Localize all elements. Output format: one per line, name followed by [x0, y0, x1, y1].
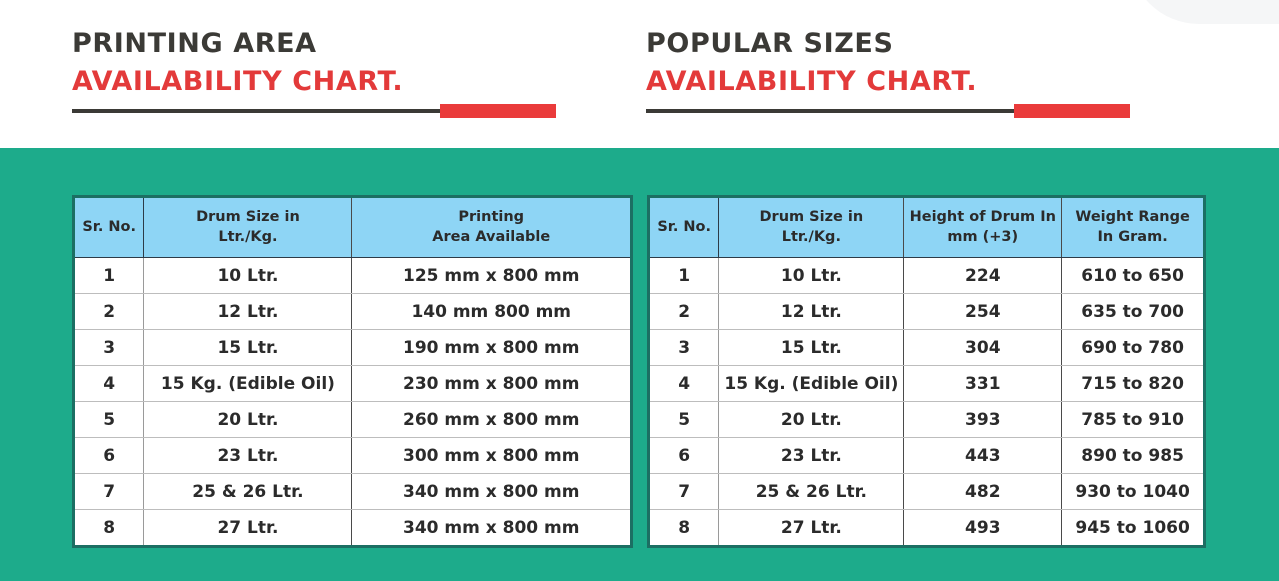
popular-sizes-table-head: Sr. No.Drum Size inLtr./Kg.Height of Dru…	[649, 197, 1205, 258]
table-cell: 10 Ltr.	[144, 258, 352, 294]
table-cell: 190 mm x 800 mm	[352, 330, 632, 366]
table-column-header: Height of Drum Inmm (+3)	[904, 197, 1062, 258]
table-cell: 27 Ltr.	[144, 510, 352, 547]
table-cell: 443	[904, 438, 1062, 474]
table-cell: 20 Ltr.	[144, 402, 352, 438]
table-cell: 254	[904, 294, 1062, 330]
table-row: 315 Ltr.190 mm x 800 mm	[74, 330, 632, 366]
table-cell: 15 Ltr.	[719, 330, 904, 366]
table-row: 623 Ltr.443890 to 985	[649, 438, 1205, 474]
table-cell: 230 mm x 800 mm	[352, 366, 632, 402]
table-cell: 12 Ltr.	[144, 294, 352, 330]
heading-popular-sizes-line2: AVAILABILITY CHART.	[646, 68, 977, 95]
divider-rule-right-dark	[646, 109, 1018, 113]
table-cell: 340 mm x 800 mm	[352, 474, 632, 510]
table-column-header: Sr. No.	[649, 197, 719, 258]
table-header-row: Sr. No.Drum Size inLtr./Kg.Height of Dru…	[649, 197, 1205, 258]
table-cell: 6	[649, 438, 719, 474]
table-cell: 20 Ltr.	[719, 402, 904, 438]
table-cell: 300 mm x 800 mm	[352, 438, 632, 474]
table-row: 212 Ltr.140 mm 800 mm	[74, 294, 632, 330]
table-row: 725 & 26 Ltr.340 mm x 800 mm	[74, 474, 632, 510]
table-cell: 331	[904, 366, 1062, 402]
table-cell: 3	[74, 330, 144, 366]
table-column-header: Drum Size inLtr./Kg.	[719, 197, 904, 258]
table-row: 520 Ltr.260 mm x 800 mm	[74, 402, 632, 438]
table-cell: 610 to 650	[1062, 258, 1205, 294]
table-cell: 715 to 820	[1062, 366, 1205, 402]
table-cell: 6	[74, 438, 144, 474]
table-cell: 482	[904, 474, 1062, 510]
table-cell: 23 Ltr.	[719, 438, 904, 474]
table-cell: 7	[74, 474, 144, 510]
table-cell: 140 mm 800 mm	[352, 294, 632, 330]
table-row: 415 Kg. (Edible Oil)331715 to 820	[649, 366, 1205, 402]
table-row: 110 Ltr.125 mm x 800 mm	[74, 258, 632, 294]
heading-printing-area-line1: PRINTING AREA	[72, 30, 403, 57]
table-cell: 393	[904, 402, 1062, 438]
table-cell: 1	[649, 258, 719, 294]
table-cell: 4	[649, 366, 719, 402]
heading-printing-area-line2: AVAILABILITY CHART.	[72, 68, 403, 95]
table-cell: 224	[904, 258, 1062, 294]
header-band: PRINTING AREA AVAILABILITY CHART. POPULA…	[0, 0, 1279, 148]
printing-area-table: Sr. No.Drum Size inLtr./Kg.PrintingArea …	[72, 195, 633, 548]
divider-rule-left	[72, 104, 556, 118]
table-cell: 8	[649, 510, 719, 547]
table-row: 725 & 26 Ltr.482930 to 1040	[649, 474, 1205, 510]
table-cell: 340 mm x 800 mm	[352, 510, 632, 547]
printing-area-table-head: Sr. No.Drum Size inLtr./Kg.PrintingArea …	[74, 197, 632, 258]
table-column-header: PrintingArea Available	[352, 197, 632, 258]
table-row: 520 Ltr.393785 to 910	[649, 402, 1205, 438]
divider-rule-left-dark	[72, 109, 444, 113]
table-cell: 493	[904, 510, 1062, 547]
table-row: 315 Ltr.304690 to 780	[649, 330, 1205, 366]
table-cell: 8	[74, 510, 144, 547]
heading-printing-area: PRINTING AREA AVAILABILITY CHART.	[72, 30, 403, 95]
heading-popular-sizes-line1: POPULAR SIZES	[646, 30, 977, 57]
corner-decoration	[1129, 0, 1279, 24]
table-cell: 5	[649, 402, 719, 438]
popular-sizes-table: Sr. No.Drum Size inLtr./Kg.Height of Dru…	[647, 195, 1206, 548]
divider-rule-left-red	[440, 104, 556, 118]
table-cell: 304	[904, 330, 1062, 366]
table-cell: 930 to 1040	[1062, 474, 1205, 510]
table-cell: 10 Ltr.	[719, 258, 904, 294]
table-cell: 635 to 700	[1062, 294, 1205, 330]
table-row: 212 Ltr.254635 to 700	[649, 294, 1205, 330]
table-row: 415 Kg. (Edible Oil)230 mm x 800 mm	[74, 366, 632, 402]
divider-rule-right	[646, 104, 1130, 118]
table-cell: 23 Ltr.	[144, 438, 352, 474]
table-cell: 7	[649, 474, 719, 510]
table-row: 827 Ltr.493945 to 1060	[649, 510, 1205, 547]
table-column-header: Weight RangeIn Gram.	[1062, 197, 1205, 258]
table-cell: 125 mm x 800 mm	[352, 258, 632, 294]
table-cell: 2	[74, 294, 144, 330]
popular-sizes-table-body: 110 Ltr.224610 to 650212 Ltr.254635 to 7…	[649, 258, 1205, 547]
table-cell: 25 & 26 Ltr.	[144, 474, 352, 510]
table-cell: 690 to 780	[1062, 330, 1205, 366]
table-row: 110 Ltr.224610 to 650	[649, 258, 1205, 294]
table-cell: 25 & 26 Ltr.	[719, 474, 904, 510]
table-cell: 12 Ltr.	[719, 294, 904, 330]
table-cell: 15 Kg. (Edible Oil)	[719, 366, 904, 402]
table-cell: 890 to 985	[1062, 438, 1205, 474]
table-cell: 945 to 1060	[1062, 510, 1205, 547]
table-cell: 5	[74, 402, 144, 438]
table-cell: 4	[74, 366, 144, 402]
table-header-row: Sr. No.Drum Size inLtr./Kg.PrintingArea …	[74, 197, 632, 258]
table-cell: 27 Ltr.	[719, 510, 904, 547]
table-cell: 2	[649, 294, 719, 330]
table-row: 827 Ltr.340 mm x 800 mm	[74, 510, 632, 547]
table-cell: 260 mm x 800 mm	[352, 402, 632, 438]
table-cell: 15 Ltr.	[144, 330, 352, 366]
table-cell: 3	[649, 330, 719, 366]
printing-area-table-body: 110 Ltr.125 mm x 800 mm212 Ltr.140 mm 80…	[74, 258, 632, 547]
table-row: 623 Ltr.300 mm x 800 mm	[74, 438, 632, 474]
table-column-header: Drum Size inLtr./Kg.	[144, 197, 352, 258]
green-content-panel: Sr. No.Drum Size inLtr./Kg.PrintingArea …	[0, 148, 1279, 581]
table-cell: 785 to 910	[1062, 402, 1205, 438]
table-column-header: Sr. No.	[74, 197, 144, 258]
table-cell: 15 Kg. (Edible Oil)	[144, 366, 352, 402]
heading-popular-sizes: POPULAR SIZES AVAILABILITY CHART.	[646, 30, 977, 95]
table-cell: 1	[74, 258, 144, 294]
divider-rule-right-red	[1014, 104, 1130, 118]
